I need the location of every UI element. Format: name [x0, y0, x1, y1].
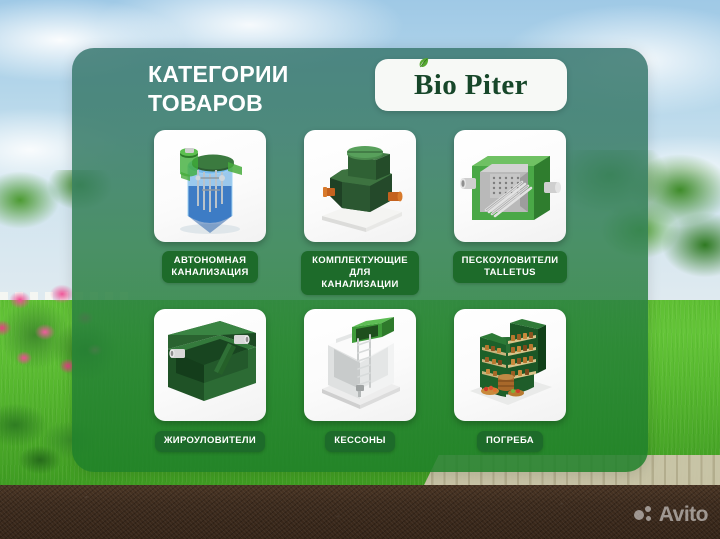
category-label: АВТОНОМНАЯ КАНАЛИЗАЦИЯ — [162, 251, 257, 283]
avito-wordmark: Avito — [659, 503, 708, 527]
category-item-cellars[interactable]: ПОГРЕБА — [451, 309, 569, 451]
septic-tank-cutaway-icon — [158, 134, 262, 238]
category-card[interactable] — [454, 130, 566, 242]
categories-panel: КАТЕГОРИИ ТОВАРОВ Bio Piter — [72, 48, 648, 472]
category-row-1: АВТОНОМНАЯ КАНАЛИЗАЦИЯ — [72, 130, 648, 295]
brand-logo: Bio Piter — [375, 59, 567, 111]
cellar-shelves-icon — [458, 313, 562, 417]
category-label: КОМПЛЕКТУЮЩИЕ ДЛЯ КАНАЛИЗАЦИИ — [301, 251, 419, 295]
category-card[interactable] — [154, 130, 266, 242]
category-card[interactable] — [454, 309, 566, 421]
category-grid: АВТОНОМНАЯ КАНАЛИЗАЦИЯ — [72, 130, 648, 452]
banner-image: Avito КАТЕГОРИИ ТОВАРОВ Bio Piter — [0, 0, 720, 539]
category-label: ПОГРЕБА — [477, 431, 543, 451]
category-card[interactable] — [154, 309, 266, 421]
page-title: КАТЕГОРИИ ТОВАРОВ — [148, 60, 289, 117]
category-row-2: ЖИРОУЛОВИТЕЛИ — [72, 309, 648, 451]
category-label: ПЕСКОУЛОВИТЕЛИ TALLETUS — [453, 251, 568, 283]
avito-dots-icon — [634, 506, 654, 524]
brand-name: Bio Piter — [414, 69, 528, 102]
category-label: ЖИРОУЛОВИТЕЛИ — [155, 431, 265, 451]
category-item-caissons[interactable]: КЕССОНЫ — [301, 309, 419, 451]
category-item-autonomous-sewerage[interactable]: АВТОНОМНАЯ КАНАЛИЗАЦИЯ — [151, 130, 269, 295]
leaf-icon — [417, 56, 430, 69]
category-item-sewerage-components[interactable]: КОМПЛЕКТУЮЩИЕ ДЛЯ КАНАЛИЗАЦИИ — [301, 130, 419, 295]
category-card[interactable] — [304, 309, 416, 421]
category-label: КЕССОНЫ — [325, 431, 395, 451]
caisson-icon — [308, 313, 412, 417]
grease-trap-icon — [158, 313, 262, 417]
panel-header: КАТЕГОРИИ ТОВАРОВ Bio Piter — [72, 48, 648, 126]
category-item-grease-traps[interactable]: ЖИРОУЛОВИТЕЛИ — [151, 309, 269, 451]
green-octagonal-tank-icon — [308, 134, 412, 238]
category-card[interactable] — [304, 130, 416, 242]
soil-strip — [0, 485, 720, 539]
avito-watermark: Avito — [634, 503, 708, 527]
category-item-sand-traps[interactable]: ПЕСКОУЛОВИТЕЛИ TALLETUS — [451, 130, 569, 295]
sand-trap-icon — [458, 134, 562, 238]
